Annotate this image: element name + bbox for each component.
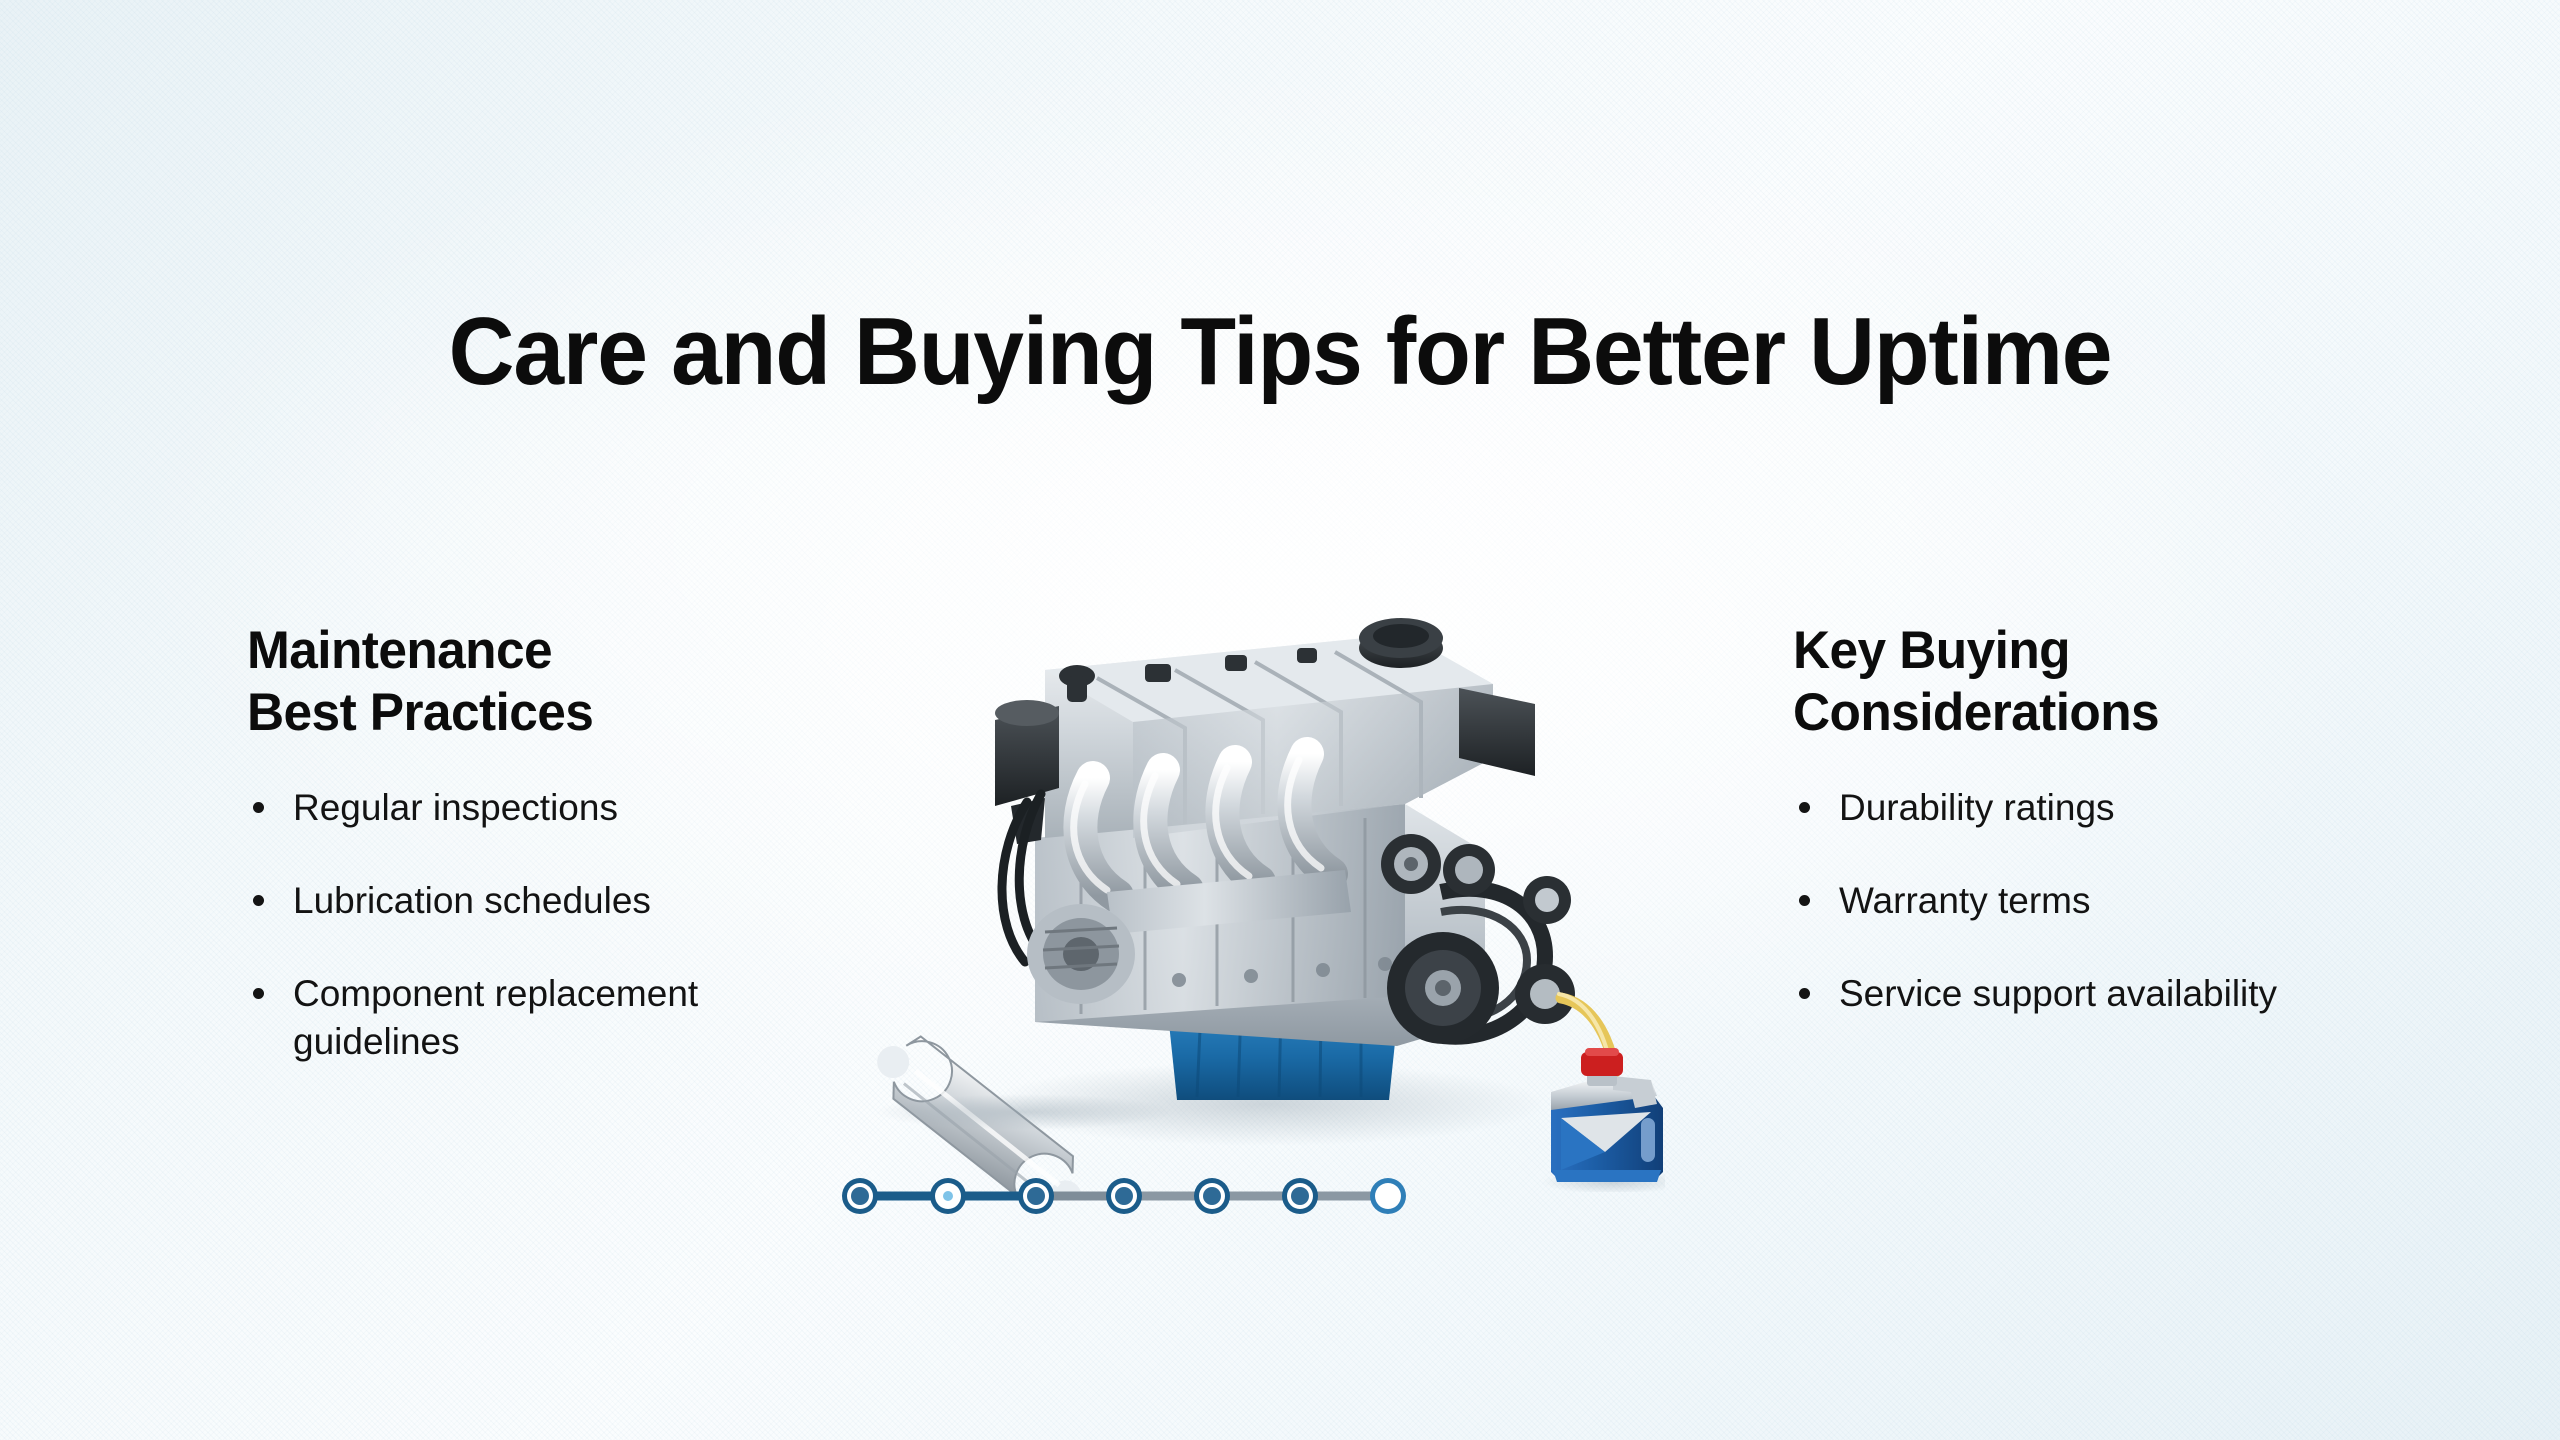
- maintenance-heading-line-2: Best Practices: [247, 682, 829, 744]
- list-item: Regular inspections: [247, 784, 847, 833]
- list-item-label: Component replacement guidelines: [293, 973, 698, 1063]
- list-item-label: Durability ratings: [1839, 787, 2115, 828]
- idler-pulley-upper: [1381, 834, 1441, 894]
- bullet-dot-icon: [1799, 802, 1810, 813]
- bullet-dot-icon: [253, 988, 264, 999]
- tensioner-pulley: [1523, 876, 1571, 924]
- bullet-dot-icon: [1799, 988, 1810, 999]
- maintenance-heading: Maintenance Best Practices: [247, 620, 829, 744]
- list-item: Component replacement guidelines: [247, 970, 847, 1068]
- list-item-label: Regular inspections: [293, 787, 618, 828]
- list-item: Warranty terms: [1793, 877, 2353, 926]
- list-item-label: Service support availability: [1839, 973, 2277, 1014]
- progress-step-5: [1194, 1178, 1230, 1214]
- progress-step-6: [1282, 1178, 1318, 1214]
- bullet-dot-icon: [253, 802, 264, 813]
- wrench-shadow: [875, 1094, 1175, 1130]
- crank-pulley: [1387, 932, 1499, 1044]
- alternator: [1027, 904, 1135, 1004]
- engine-illustration: [845, 552, 1665, 1192]
- buying-heading-line-1: Key Buying: [1793, 620, 2336, 682]
- oil-bottle-grip: [1641, 1118, 1655, 1162]
- idler-pulley-right: [1443, 844, 1495, 896]
- maintenance-bullet-list: Regular inspections Lubrication schedule…: [247, 784, 847, 1067]
- maintenance-heading-line-1: Maintenance: [247, 620, 829, 682]
- maintenance-column: Maintenance Best Practices Regular inspe…: [247, 620, 847, 1067]
- progress-step-2-current: [930, 1178, 966, 1214]
- progress-step-1: [842, 1178, 878, 1214]
- list-item: Lubrication schedules: [247, 877, 847, 926]
- page-title: Care and Buying Tips for Better Uptime: [64, 302, 2496, 403]
- bullet-dot-icon: [253, 895, 264, 906]
- list-item-label: Lubrication schedules: [293, 880, 651, 921]
- progress-step-7-empty: [1370, 1178, 1406, 1214]
- progress-step-4: [1106, 1178, 1142, 1214]
- list-item-label: Warranty terms: [1839, 880, 2090, 921]
- buying-column: Key Buying Considerations Durability rat…: [1793, 620, 2353, 1018]
- progress-indicator[interactable]: [838, 1172, 1758, 1220]
- list-item: Service support availability: [1793, 970, 2353, 1019]
- list-item: Durability ratings: [1793, 784, 2353, 833]
- oil-filler-cap: [1359, 618, 1443, 668]
- oil-bottle-cap-top: [1585, 1048, 1619, 1056]
- buying-heading: Key Buying Considerations: [1793, 620, 2336, 744]
- progress-step-3: [1018, 1178, 1054, 1214]
- bullet-dot-icon: [1799, 895, 1810, 906]
- buying-bullet-list: Durability ratings Warranty terms Servic…: [1793, 784, 2353, 1018]
- buying-heading-line-2: Considerations: [1793, 682, 2336, 744]
- oil-bottle: [1541, 1048, 1665, 1192]
- slide-canvas: Care and Buying Tips for Better Uptime M…: [0, 0, 2560, 1440]
